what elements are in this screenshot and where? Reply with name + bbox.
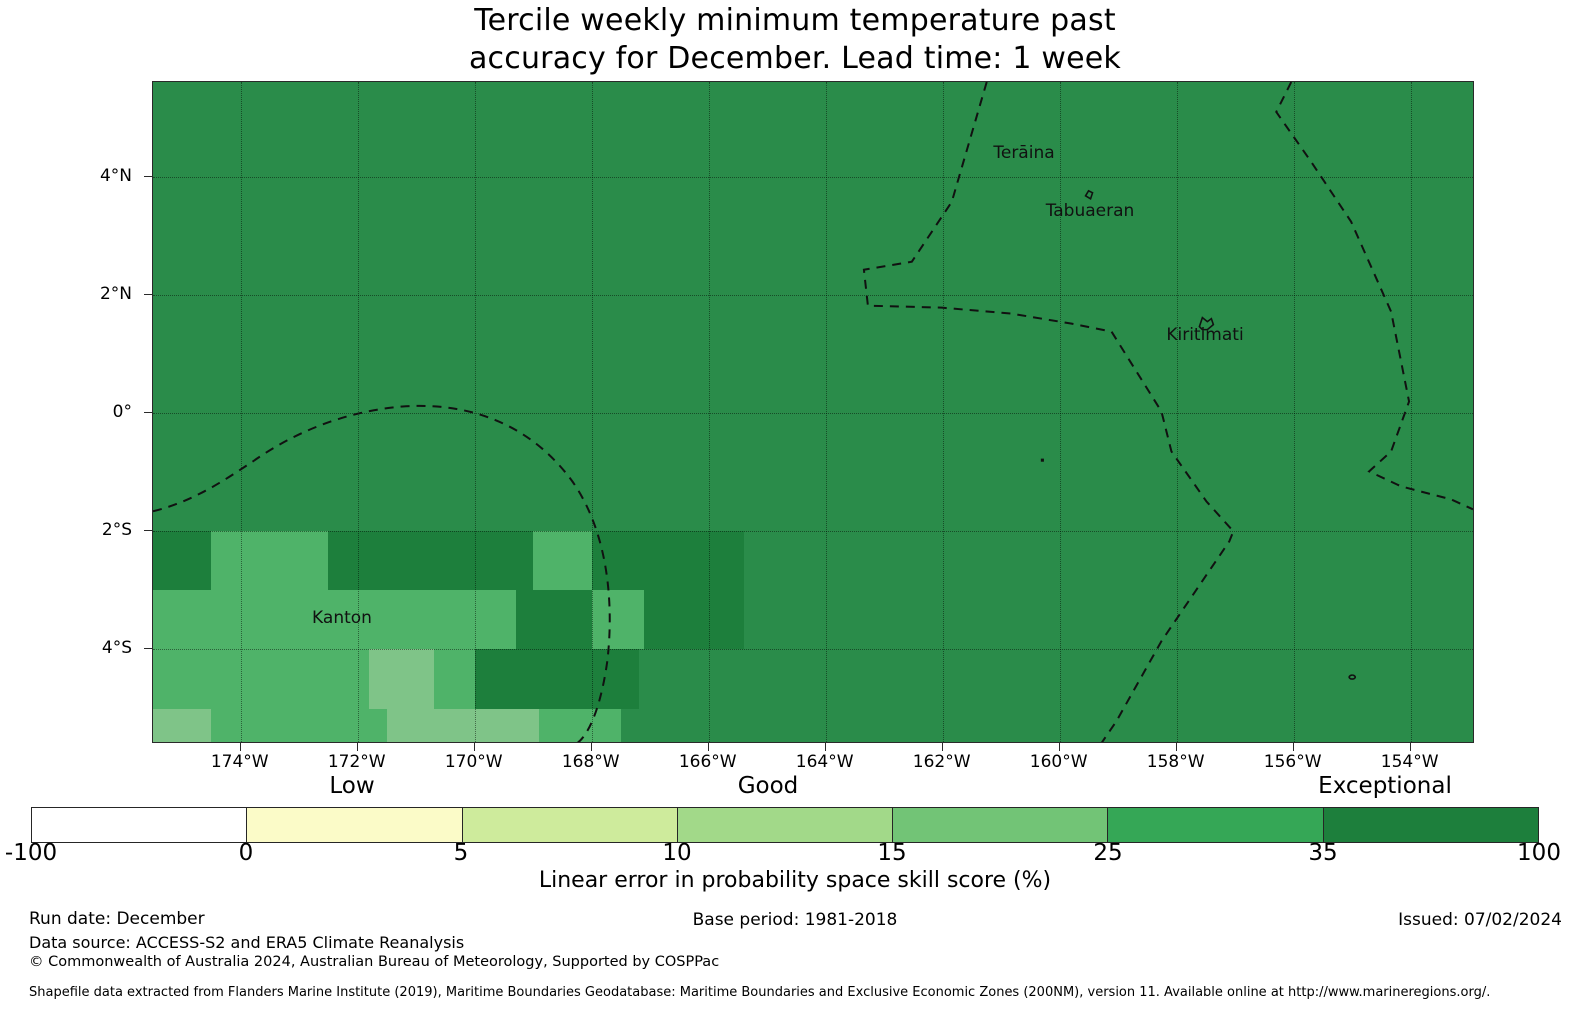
y-tick-text: 2°N [22, 284, 142, 304]
island-label-tabuaeran: Tabuaeran [1046, 201, 1135, 221]
colorbar-tick-labels: -1000510152535100 [0, 840, 1590, 868]
colorbar-tick: 35 [1308, 840, 1337, 866]
issued-date-text: Issued: 07/02/2024 [1398, 910, 1562, 930]
colorbar-segment-2 [462, 808, 677, 842]
x-tick-mark [474, 743, 475, 751]
colorbar[interactable] [31, 807, 1539, 843]
island-label-terina: Terāina [993, 143, 1054, 163]
map-panel[interactable]: TerāinaTabuaeranKiritimatiKanton [152, 81, 1474, 743]
y-tick-mark [144, 530, 152, 531]
y-tick-label: 4°S [22, 638, 142, 658]
colorbar-category-good: Good [738, 773, 799, 799]
colorbar-segment-4 [892, 808, 1107, 842]
y-tick-mark [144, 176, 152, 177]
eez-line-northern [864, 82, 1233, 743]
x-tick-mark [1059, 743, 1060, 751]
y-tick-mark [144, 412, 152, 413]
y-tick-text: 4°N [22, 166, 142, 186]
title-line-2: accuracy for December. Lead time: 1 week [0, 40, 1590, 78]
eez-line-eastern [1276, 82, 1473, 509]
colorbar-tick: -100 [5, 840, 57, 866]
colorbar-segment-0 [32, 808, 246, 842]
x-tick-mark [942, 743, 943, 751]
y-tick-text: 4°S [22, 638, 142, 658]
x-tick-mark [357, 743, 358, 751]
colorbar-tick: 5 [454, 840, 469, 866]
y-tick-label: 2°S [22, 520, 142, 540]
x-tick-mark [825, 743, 826, 751]
x-tick-label: 154°W [1340, 752, 1480, 772]
colorbar-tick: 0 [239, 840, 254, 866]
colorbar-category-low: Low [329, 773, 374, 799]
y-tick-label: 2°N [22, 284, 142, 304]
y-tick-mark [144, 648, 152, 649]
shapefile-credit-text: Shapefile data extracted from Flanders M… [29, 985, 1490, 1000]
data-source-text: Data source: ACCESS-S2 and ERA5 Climate … [29, 933, 464, 952]
colorbar-category-exceptional: Exceptional [1318, 773, 1452, 799]
run-date-text: Run date: December [29, 909, 205, 929]
colorbar-tick: 25 [1093, 840, 1122, 866]
eez-phoenix-arc [153, 406, 610, 743]
title-line-1: Tercile weekly minimum temperature past [474, 3, 1116, 38]
page-title: Tercile weekly minimum temperature past … [0, 2, 1590, 78]
colorbar-title: Linear error in probability space skill … [0, 868, 1590, 893]
x-tick-mark [240, 743, 241, 751]
x-tick-mark [708, 743, 709, 751]
y-tick-mark [144, 294, 152, 295]
colorbar-segment-6 [1323, 808, 1538, 842]
copyright-text: © Commonwealth of Australia 2024, Austra… [29, 954, 719, 970]
footer: Run date: December Base period: 1981-201… [0, 906, 1590, 1020]
island-label-kiritimati: Kiritimati [1166, 325, 1243, 345]
colorbar-segment-5 [1107, 808, 1322, 842]
y-tick-label: 0° [22, 402, 142, 422]
x-tick-mark [591, 743, 592, 751]
base-period-text: Base period: 1981-2018 [693, 910, 898, 930]
eez-boundary-lines [153, 82, 1473, 743]
colorbar-category-labels: LowGoodExceptional [0, 773, 1590, 801]
colorbar-tick: 15 [877, 840, 906, 866]
colorbar-tick: 100 [1517, 840, 1561, 866]
x-tick-mark [1293, 743, 1294, 751]
x-tick-mark [1176, 743, 1177, 751]
island-label-kanton: Kanton [312, 608, 372, 628]
x-tick-mark [1410, 743, 1411, 751]
colorbar-segment-1 [246, 808, 461, 842]
colorbar-tick: 10 [662, 840, 691, 866]
y-tick-label: 4°N [22, 166, 142, 186]
y-tick-text: 0° [22, 402, 142, 422]
forecast-map-page: Tercile weekly minimum temperature past … [0, 0, 1590, 1020]
y-tick-text: 2°S [22, 520, 142, 540]
colorbar-segment-3 [677, 808, 892, 842]
